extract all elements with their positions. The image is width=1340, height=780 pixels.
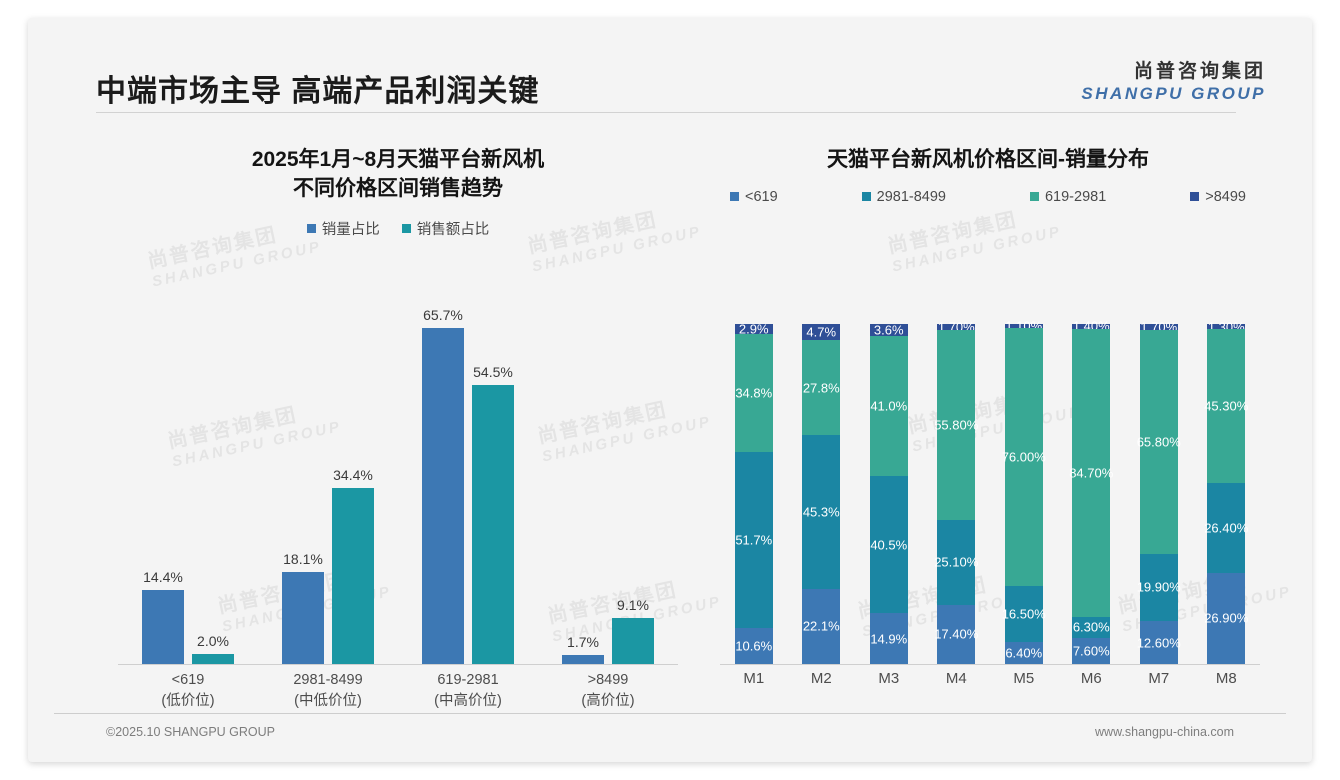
stack-segment-label: 45.30% bbox=[1204, 398, 1248, 413]
stack-segment[interactable]: 26.40% bbox=[1207, 483, 1245, 573]
stack-segment-label: 34.8% bbox=[735, 386, 772, 401]
bar-column[interactable]: 1.7% bbox=[562, 296, 604, 664]
page-title: 中端市场主导 高端产品利润关键 bbox=[96, 66, 539, 110]
bar-group: 65.7%54.5% bbox=[398, 296, 538, 664]
bar[interactable] bbox=[192, 654, 234, 664]
chart-grouped-bar: 2025年1月~8月天猫平台新风机 不同价格区间销售趋势 销量占比销售额占比 1… bbox=[98, 146, 698, 711]
stack-segment[interactable]: 12.60% bbox=[1140, 621, 1178, 664]
x-tick-label: 2981-8499(中低价位) bbox=[258, 670, 398, 712]
stack-segment[interactable]: 65.80% bbox=[1140, 330, 1178, 554]
stack-segment-label: 10.6% bbox=[735, 638, 772, 653]
footer-divider bbox=[54, 713, 1286, 714]
legend-swatch-icon bbox=[1030, 192, 1039, 201]
x-tick-sublabel: (低价位) bbox=[118, 691, 258, 712]
stack-segment-label: 16.50% bbox=[1002, 607, 1046, 622]
x-tick-label: M4 bbox=[923, 670, 991, 687]
stack-segment[interactable]: 17.40% bbox=[937, 605, 975, 664]
stacked-bar-column[interactable]: 1.40%84.70%6.30%7.60% bbox=[1072, 324, 1110, 664]
stack-segment-label: 27.8% bbox=[803, 380, 840, 395]
x-tick-label: >8499(高价位) bbox=[538, 670, 678, 712]
stack-segment-label: 26.90% bbox=[1204, 611, 1248, 626]
stack-segment-label: 17.40% bbox=[934, 627, 978, 642]
stacked-bar-column[interactable]: 1.10%76.00%16.50%6.40% bbox=[1005, 324, 1043, 664]
stack-segment[interactable]: 76.00% bbox=[1005, 328, 1043, 586]
x-tick-range: <619 bbox=[172, 672, 205, 688]
left-chart-title-line1: 2025年1月~8月天猫平台新风机 bbox=[252, 148, 544, 171]
header-divider bbox=[96, 112, 1236, 113]
stacked-bar-column[interactable]: 1.70%55.80%25.10%17.40% bbox=[937, 324, 975, 664]
stack-segment[interactable]: 19.90% bbox=[1140, 554, 1178, 622]
stack-segment[interactable]: 25.10% bbox=[937, 520, 975, 605]
bar-value-label: 14.4% bbox=[143, 569, 183, 585]
x-tick-label: M2 bbox=[788, 670, 856, 687]
x-tick-label: M7 bbox=[1125, 670, 1193, 687]
stack-segment[interactable]: 34.8% bbox=[735, 334, 773, 452]
bar[interactable] bbox=[282, 572, 324, 665]
stack-segment[interactable]: 3.6% bbox=[870, 324, 908, 336]
stacked-bar-column[interactable]: 2.9%34.8%51.7%10.6% bbox=[735, 324, 773, 664]
slide-header: 中端市场主导 高端产品利润关键 尚普咨询集团 SHANGPU GROUP bbox=[28, 18, 1312, 122]
slide-canvas: 尚普咨询集团SHANGPU GROUP 尚普咨询集团SHANGPU GROUP … bbox=[28, 18, 1312, 762]
stack-segment[interactable]: 27.8% bbox=[802, 340, 840, 435]
bar[interactable] bbox=[332, 488, 374, 664]
stack-segment-label: 55.80% bbox=[934, 417, 978, 432]
stack-segment[interactable]: 45.3% bbox=[802, 435, 840, 589]
bar-value-label: 65.7% bbox=[423, 307, 463, 323]
bar-group: 1.7%9.1% bbox=[538, 296, 678, 664]
stack-segment[interactable]: 41.0% bbox=[870, 336, 908, 475]
bar[interactable] bbox=[612, 618, 654, 665]
bar-column[interactable]: 14.4% bbox=[142, 296, 184, 664]
legend-label: 2981-8499 bbox=[877, 189, 946, 205]
bar-column[interactable]: 9.1% bbox=[612, 296, 654, 664]
chart-stacked-bar: 天猫平台新风机价格区间-销量分布 <6192981-8499619-2981>8… bbox=[708, 146, 1268, 711]
bar-value-label: 18.1% bbox=[283, 551, 323, 567]
stack-segment-label: 25.10% bbox=[934, 555, 978, 570]
stack-segment[interactable]: 55.80% bbox=[937, 330, 975, 520]
bar[interactable] bbox=[142, 590, 184, 664]
stack-segment[interactable]: 84.70% bbox=[1072, 329, 1110, 617]
legend-swatch-icon bbox=[402, 224, 411, 233]
legend-item[interactable]: 2981-8499 bbox=[862, 189, 946, 205]
x-tick-label: M1 bbox=[720, 670, 788, 687]
legend-label: <619 bbox=[745, 189, 778, 205]
x-tick-sublabel: (中低价位) bbox=[258, 691, 398, 712]
bar-column[interactable]: 65.7% bbox=[422, 296, 464, 664]
stacked-bar-column[interactable]: 1.30%45.30%26.40%26.90% bbox=[1207, 324, 1245, 664]
bar[interactable] bbox=[562, 655, 604, 664]
brand-logo: 尚普咨询集团 SHANGPU GROUP bbox=[1081, 56, 1266, 104]
x-tick-label: M6 bbox=[1058, 670, 1126, 687]
stacked-bar-column[interactable]: 3.6%41.0%40.5%14.9% bbox=[870, 324, 908, 664]
stacked-bar-column[interactable]: 1.70%65.80%19.90%12.60% bbox=[1140, 324, 1178, 664]
stack-segment[interactable]: 45.30% bbox=[1207, 329, 1245, 483]
bar-value-label: 9.1% bbox=[617, 597, 649, 613]
stack-segment-label: 7.60% bbox=[1073, 644, 1110, 659]
legend-swatch-icon bbox=[1190, 192, 1199, 201]
legend-swatch-icon bbox=[862, 192, 871, 201]
x-tick-label: 619-2981(中高价位) bbox=[398, 670, 538, 712]
legend-label: >8499 bbox=[1205, 189, 1246, 205]
right-plot-area: 2.9%34.8%51.7%10.6%4.7%27.8%45.3%22.1%3.… bbox=[720, 324, 1260, 664]
stack-segment[interactable]: 16.50% bbox=[1005, 586, 1043, 642]
legend-item[interactable]: >8499 bbox=[1190, 189, 1246, 205]
stack-segment[interactable]: 51.7% bbox=[735, 452, 773, 628]
x-tick-label: M3 bbox=[855, 670, 923, 687]
legend-label: 销售额占比 bbox=[417, 218, 490, 239]
right-chart-title-line1: 天猫平台新风机价格区间-销量分布 bbox=[827, 148, 1149, 171]
right-x-axis bbox=[720, 664, 1260, 665]
stack-segment[interactable]: 4.7% bbox=[802, 324, 840, 340]
stack-segment-label: 14.9% bbox=[870, 631, 907, 646]
left-chart-title-line2: 不同价格区间销售趋势 bbox=[98, 175, 698, 204]
stack-segment-label: 12.60% bbox=[1137, 635, 1181, 650]
legend-swatch-icon bbox=[730, 192, 739, 201]
legend-item[interactable]: 销量占比 bbox=[307, 218, 380, 239]
stack-segment-label: 6.40% bbox=[1005, 646, 1042, 661]
legend-swatch-icon bbox=[307, 224, 316, 233]
stack-segment[interactable]: 6.40% bbox=[1005, 642, 1043, 664]
x-tick-sublabel: (高价位) bbox=[538, 691, 678, 712]
legend-label: 619-2981 bbox=[1045, 189, 1106, 205]
stack-segment-label: 6.30% bbox=[1073, 620, 1110, 635]
bar-group: 18.1%34.4% bbox=[258, 296, 398, 664]
bar-column[interactable]: 2.0% bbox=[192, 296, 234, 664]
x-tick-range: 619-2981 bbox=[437, 672, 498, 688]
legend-item[interactable]: 销售额占比 bbox=[402, 218, 490, 239]
bar-value-label: 34.4% bbox=[333, 467, 373, 483]
x-tick-sublabel: (中高价位) bbox=[398, 691, 538, 712]
right-chart-legend: <6192981-8499619-2981>8499 bbox=[708, 189, 1268, 205]
x-tick-range: >8499 bbox=[588, 672, 629, 688]
stack-segment[interactable]: 2.9% bbox=[735, 324, 773, 334]
stack-segment-label: 22.1% bbox=[803, 619, 840, 634]
footer-copyright: ©2025.10 SHANGPU GROUP bbox=[106, 725, 275, 739]
bar[interactable] bbox=[422, 328, 464, 664]
stacked-bar-column[interactable]: 4.7%27.8%45.3%22.1% bbox=[802, 324, 840, 664]
logo-text-en: SHANGPU GROUP bbox=[1081, 84, 1266, 104]
footer-website: www.shangpu-china.com bbox=[1095, 725, 1234, 739]
stack-segment-label: 41.0% bbox=[870, 398, 907, 413]
x-tick-label: M5 bbox=[990, 670, 1058, 687]
left-chart-title: 2025年1月~8月天猫平台新风机 不同价格区间销售趋势 bbox=[98, 146, 698, 204]
stack-segment-label: 51.7% bbox=[735, 533, 772, 548]
stack-segment[interactable]: 14.9% bbox=[870, 613, 908, 664]
legend-label: 销量占比 bbox=[322, 218, 380, 239]
bar-value-label: 54.5% bbox=[473, 364, 513, 380]
stack-segment-label: 40.5% bbox=[870, 537, 907, 552]
stack-segment-label: 26.40% bbox=[1204, 520, 1248, 535]
stack-segment[interactable]: 7.60% bbox=[1072, 638, 1110, 664]
stack-segment[interactable]: 6.30% bbox=[1072, 617, 1110, 638]
stack-segment[interactable]: 22.1% bbox=[802, 589, 840, 664]
stack-segment[interactable]: 10.6% bbox=[735, 628, 773, 664]
stack-segment-label: 84.70% bbox=[1069, 465, 1113, 480]
right-chart-title: 天猫平台新风机价格区间-销量分布 bbox=[708, 146, 1268, 175]
x-tick-range: 2981-8499 bbox=[293, 672, 362, 688]
stack-segment-label: 76.00% bbox=[1002, 449, 1046, 464]
bar-column[interactable]: 34.4% bbox=[332, 296, 374, 664]
bar[interactable] bbox=[472, 385, 514, 664]
stack-segment-label: 45.3% bbox=[803, 504, 840, 519]
stack-segment[interactable]: 40.5% bbox=[870, 476, 908, 614]
bar-value-label: 1.7% bbox=[567, 634, 599, 650]
stack-segment-label: 19.90% bbox=[1137, 580, 1181, 595]
x-tick-label: M8 bbox=[1193, 670, 1261, 687]
left-x-axis bbox=[118, 664, 678, 665]
stack-segment-label: 4.7% bbox=[806, 325, 836, 340]
stack-segment-label: 65.80% bbox=[1137, 434, 1181, 449]
left-chart-legend: 销量占比销售额占比 bbox=[98, 218, 698, 239]
bar-column[interactable]: 18.1% bbox=[282, 296, 324, 664]
x-tick-label: <619(低价位) bbox=[118, 670, 258, 712]
bar-value-label: 2.0% bbox=[197, 633, 229, 649]
legend-item[interactable]: 619-2981 bbox=[1030, 189, 1106, 205]
bar-group: 14.4%2.0% bbox=[118, 296, 258, 664]
logo-text-cn: 尚普咨询集团 bbox=[1081, 56, 1266, 83]
legend-item[interactable]: <619 bbox=[730, 189, 778, 205]
bar-column[interactable]: 54.5% bbox=[472, 296, 514, 664]
stack-segment[interactable]: 26.90% bbox=[1207, 573, 1245, 664]
left-plot-area: 14.4%2.0%18.1%34.4%65.7%54.5%1.7%9.1% bbox=[118, 296, 678, 664]
